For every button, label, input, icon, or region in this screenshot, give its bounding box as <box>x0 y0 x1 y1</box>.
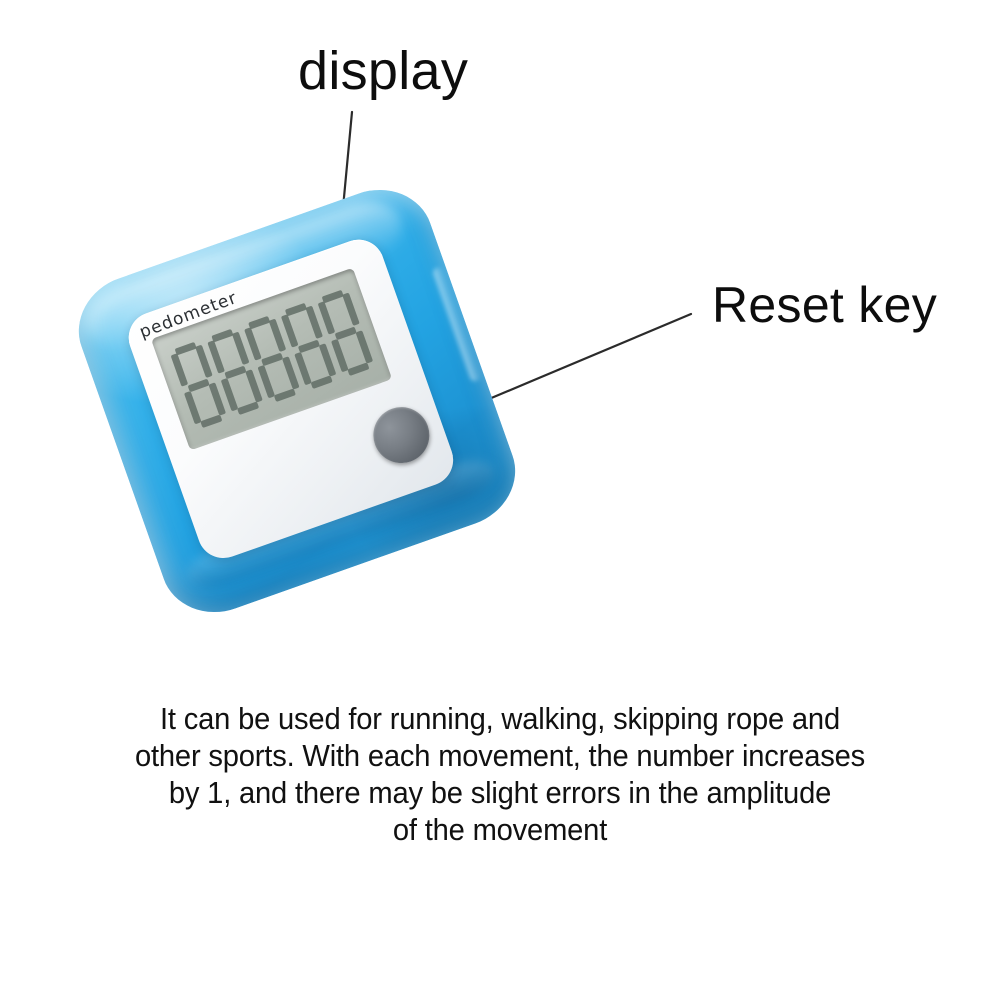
description-line: of the movement <box>68 811 933 848</box>
description-line: other sports. With each movement, the nu… <box>68 737 933 774</box>
callout-label-display: display <box>298 42 468 100</box>
description-line: It can be used for running, walking, ski… <box>68 700 933 737</box>
shell-side-seam <box>432 266 481 382</box>
product-description: It can be used for running, walking, ski… <box>68 700 933 848</box>
infographic-canvas: display Reset key pedometer <box>0 0 1000 1000</box>
reset-button[interactable] <box>366 399 437 470</box>
pedometer-device: pedometer <box>64 174 530 627</box>
callout-label-reset-key: Reset key <box>712 278 937 332</box>
description-line: by 1, and there may be slight errors in … <box>68 774 933 811</box>
product-image-pedometer: pedometer <box>60 178 530 638</box>
